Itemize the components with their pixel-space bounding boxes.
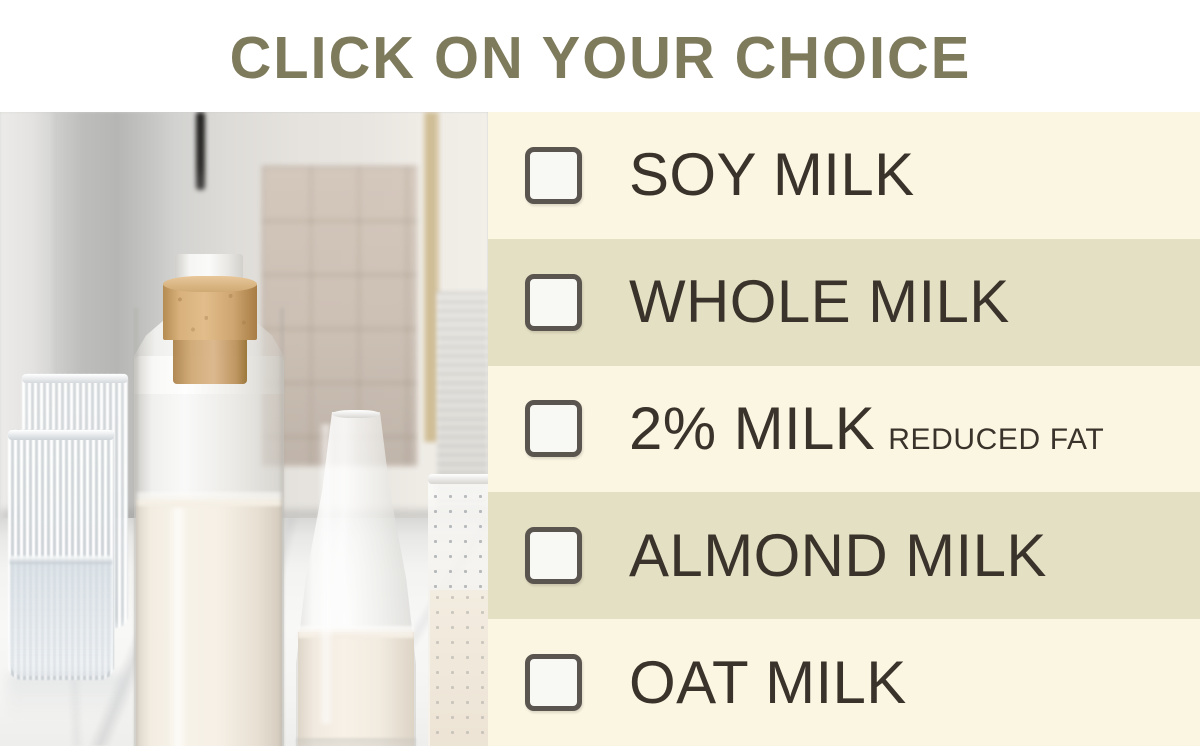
checkbox-two-percent-milk[interactable] <box>525 400 582 457</box>
photo-bottle-milkline <box>136 492 282 506</box>
option-row-two-percent-milk[interactable]: 2% MILK REDUCED FAT <box>488 366 1200 493</box>
photo-bottle-edge-right <box>278 308 284 746</box>
option-text-two-percent-milk: 2% MILK <box>629 399 875 459</box>
photo-carafe-gloss <box>318 424 334 724</box>
choice-options-list: SOY MILK WHOLE MILK 2% MILK REDUCED FAT <box>488 112 1200 746</box>
milk-photo <box>0 112 488 746</box>
option-text-whole-milk: WHOLE MILK <box>629 272 1010 332</box>
content-split: SOY MILK WHOLE MILK 2% MILK REDUCED FAT <box>0 112 1200 746</box>
photo-glass-reflection <box>8 674 128 718</box>
photo-glass-water <box>10 560 112 676</box>
page-title: CLICK ON YOUR CHOICE <box>229 25 971 88</box>
option-label-two-percent-milk: 2% MILK REDUCED FAT <box>629 399 1104 459</box>
checkbox-soy-milk[interactable] <box>525 147 582 204</box>
photo-dotted-glass-rim <box>428 474 488 484</box>
option-row-whole-milk[interactable]: WHOLE MILK <box>488 239 1200 366</box>
photo-carafe-base <box>296 738 416 746</box>
option-label-whole-milk: WHOLE MILK <box>629 272 1010 332</box>
photo-bottle-edge-left <box>134 308 140 746</box>
option-subtext-reduced-fat: REDUCED FAT <box>888 425 1104 455</box>
checkbox-whole-milk[interactable] <box>525 274 582 331</box>
photo-bottle-gloss <box>168 508 188 746</box>
photo-dotted-glass-milk <box>430 590 488 746</box>
option-label-oat-milk: OAT MILK <box>629 653 907 713</box>
photo-glass-waterline <box>10 556 112 564</box>
photo-glass-back-rim <box>22 374 128 383</box>
photo-cork-top <box>163 276 257 292</box>
checkbox-oat-milk[interactable] <box>525 654 582 711</box>
photo-carafe-milk <box>298 632 414 746</box>
option-text-soy-milk: SOY MILK <box>629 145 915 205</box>
option-label-soy-milk: SOY MILK <box>629 145 915 205</box>
option-row-soy-milk[interactable]: SOY MILK <box>488 112 1200 239</box>
option-text-almond-milk: ALMOND MILK <box>629 526 1047 586</box>
option-row-oat-milk[interactable]: OAT MILK <box>488 619 1200 746</box>
photo-carafe-rim <box>332 410 380 418</box>
option-label-almond-milk: ALMOND MILK <box>629 526 1047 586</box>
option-row-almond-milk[interactable]: ALMOND MILK <box>488 492 1200 619</box>
option-text-oat-milk: OAT MILK <box>629 653 907 713</box>
photo-glass-front-rim <box>8 430 114 440</box>
photo-carafe-milkline <box>298 626 414 638</box>
photo-bottle-milk <box>136 500 282 746</box>
header-bar: CLICK ON YOUR CHOICE <box>0 0 1200 112</box>
checkbox-almond-milk[interactable] <box>525 527 582 584</box>
choice-screen: CLICK ON YOUR CHOICE <box>0 0 1200 746</box>
photo-dark-rod <box>196 112 205 190</box>
